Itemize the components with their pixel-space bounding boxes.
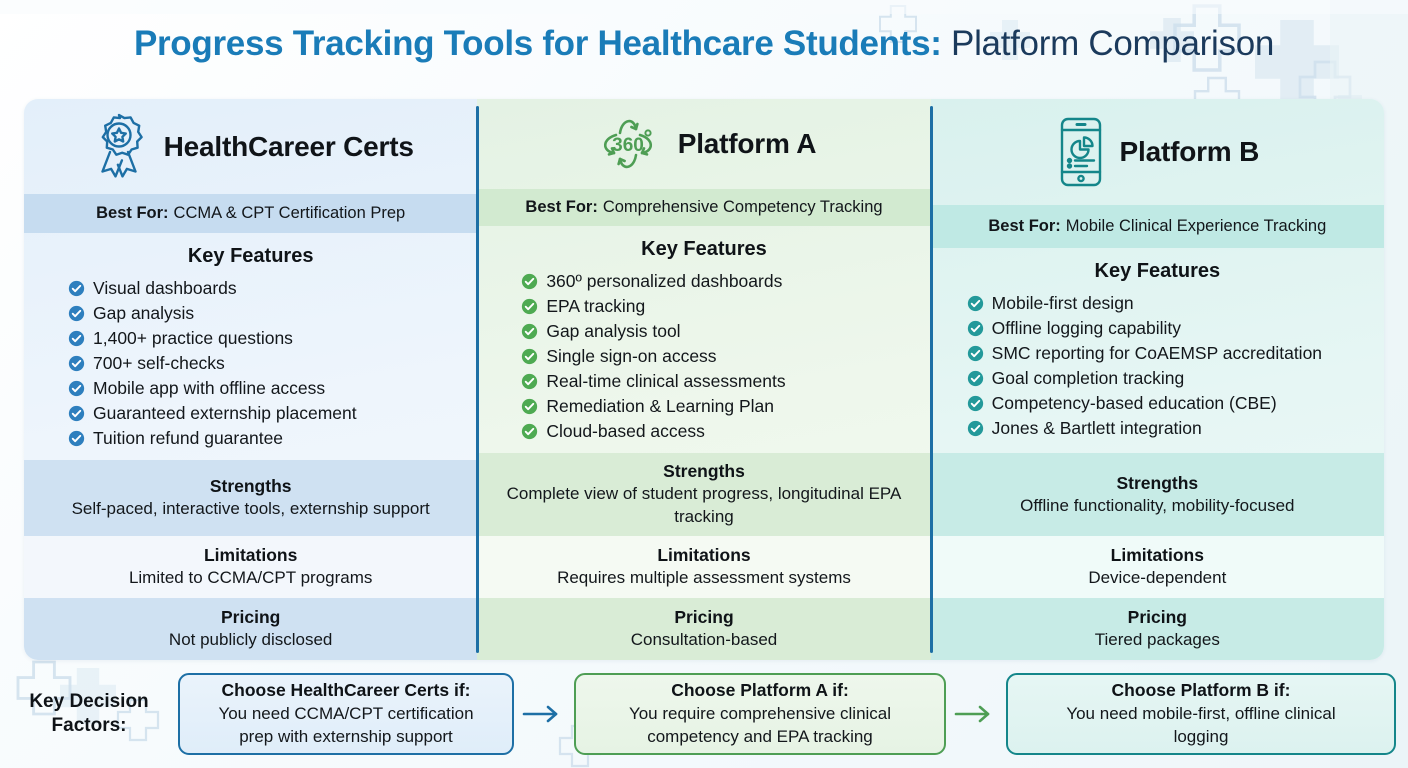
strengths-row: Strengths Complete view of student progr… — [477, 453, 930, 536]
list-item-label: Real-time clinical assessments — [546, 370, 785, 394]
features-title: Key Features — [491, 238, 916, 261]
decision-box-line-2: logging — [1020, 725, 1382, 748]
column-platform-a: 360 Platform A Best For:Comprehensive Co… — [477, 99, 930, 660]
strengths-row: Strengths Offline functionality, mobilit… — [931, 453, 1384, 536]
features-block: Key Features 360º personalized dashboard… — [477, 226, 930, 453]
decision-box-title: Choose Platform A if: — [588, 679, 932, 702]
strengths-row: Strengths Self-paced, interactive tools,… — [24, 460, 477, 536]
list-item-label: Visual dashboards — [93, 277, 237, 301]
check-circle-icon — [967, 370, 984, 387]
page-title-strong: Progress Tracking Tools for Healthcare S… — [134, 24, 942, 63]
limitations-label: Limitations — [489, 544, 918, 566]
pricing-label: Pricing — [489, 606, 918, 628]
award-ribbon-icon — [88, 112, 150, 182]
column-title: Platform A — [678, 128, 817, 160]
best-for-value: Mobile Clinical Experience Tracking — [1066, 217, 1326, 236]
strengths-label: Strengths — [943, 472, 1372, 494]
list-item-label: Jones & Bartlett integration — [992, 417, 1202, 441]
page-title-light: Platform Comparison — [942, 24, 1274, 63]
list-item-label: 1,400+ practice questions — [93, 327, 293, 351]
check-circle-icon — [521, 273, 538, 290]
arrow-gap-1 — [514, 703, 574, 725]
best-for-value: CCMA & CPT Certification Prep — [174, 204, 406, 223]
mobile-analytics-icon — [1056, 116, 1106, 188]
decision-box-line-1: You need mobile-first, offline clinical — [1020, 702, 1382, 725]
limitations-value: Requires multiple assessment systems — [489, 566, 918, 589]
best-for-band: Best For:Mobile Clinical Experience Trac… — [931, 205, 1384, 248]
list-item: Cloud-based access — [521, 420, 916, 444]
list-item: Real-time clinical assessments — [521, 370, 916, 394]
strengths-label: Strengths — [36, 475, 465, 497]
decision-box-platform-a[interactable]: Choose Platform A if: You require compre… — [574, 673, 946, 755]
list-item: Jones & Bartlett integration — [967, 417, 1370, 441]
list-item: Goal completion tracking — [967, 367, 1370, 391]
list-item-label: Guaranteed externship placement — [93, 402, 357, 426]
svg-text:360: 360 — [612, 135, 644, 156]
column-header: HealthCareer Certs — [24, 99, 477, 194]
pricing-label: Pricing — [36, 606, 465, 628]
check-circle-icon — [68, 330, 85, 347]
check-circle-icon — [521, 298, 538, 315]
best-for-band: Best For:CCMA & CPT Certification Prep — [24, 194, 477, 233]
check-circle-icon — [68, 380, 85, 397]
decision-box-healthcareer-certs[interactable]: Choose HealthCareer Certs if: You need C… — [178, 673, 514, 755]
features-list: 360º personalized dashboards EPA trackin… — [491, 270, 916, 445]
pricing-row: Pricing Not publicly disclosed — [24, 598, 477, 660]
check-circle-icon — [521, 323, 538, 340]
list-item: Single sign-on access — [521, 345, 916, 369]
list-item-label: Gap analysis tool — [546, 320, 680, 344]
best-for-band: Best For:Comprehensive Competency Tracki… — [477, 189, 930, 226]
list-item-label: 360º personalized dashboards — [546, 270, 782, 294]
arrow-right-icon — [954, 703, 998, 725]
best-for-label: Best For: — [525, 198, 597, 217]
list-item-label: Mobile-first design — [992, 292, 1134, 316]
decision-box-title: Choose HealthCareer Certs if: — [192, 679, 500, 702]
360-rotation-icon: 360 — [592, 109, 664, 179]
pricing-row: Pricing Consultation-based — [477, 598, 930, 660]
check-circle-icon — [967, 420, 984, 437]
list-item: Remediation & Learning Plan — [521, 395, 916, 419]
check-circle-icon — [967, 345, 984, 362]
check-circle-icon — [521, 398, 538, 415]
pricing-row: Pricing Tiered packages — [931, 598, 1384, 660]
check-circle-icon — [521, 423, 538, 440]
limitations-label: Limitations — [36, 544, 465, 566]
decision-box-title: Choose Platform B if: — [1020, 679, 1382, 702]
best-for-value: Comprehensive Competency Tracking — [603, 198, 883, 217]
list-item: 700+ self-checks — [68, 352, 463, 376]
list-item: Gap analysis — [68, 302, 463, 326]
list-item: Guaranteed externship placement — [68, 402, 463, 426]
limitations-row: Limitations Requires multiple assessment… — [477, 536, 930, 598]
features-list: Mobile-first design Offline logging capa… — [945, 292, 1370, 442]
strengths-value: Self-paced, interactive tools, externshi… — [36, 497, 465, 520]
list-item: EPA tracking — [521, 295, 916, 319]
list-item: 360º personalized dashboards — [521, 270, 916, 294]
list-item: Mobile app with offline access — [68, 377, 463, 401]
features-title: Key Features — [945, 260, 1370, 283]
column-header: Platform B — [931, 99, 1384, 205]
decision-box-line-1: You need CCMA/CPT certification — [192, 702, 500, 725]
list-item: Tuition refund guarantee — [68, 427, 463, 451]
check-circle-icon — [68, 280, 85, 297]
pricing-label: Pricing — [943, 606, 1372, 628]
page-title: Progress Tracking Tools for Healthcare S… — [0, 24, 1408, 64]
list-item-label: Mobile app with offline access — [93, 377, 325, 401]
list-item-label: SMC reporting for CoAEMSP accreditation — [992, 342, 1322, 366]
list-item: Competency-based education (CBE) — [967, 392, 1370, 416]
features-list: Visual dashboards Gap analysis 1,400+ pr… — [38, 277, 463, 452]
pricing-value: Consultation-based — [489, 628, 918, 651]
pricing-value: Tiered packages — [943, 628, 1372, 651]
list-item-label: Gap analysis — [93, 302, 194, 326]
list-item: Mobile-first design — [967, 292, 1370, 316]
check-circle-icon — [68, 305, 85, 322]
check-circle-icon — [68, 430, 85, 447]
list-item-label: Tuition refund guarantee — [93, 427, 283, 451]
column-title: HealthCareer Certs — [164, 131, 414, 163]
arrow-gap-2 — [946, 703, 1006, 725]
key-decision-factors-strip: Key Decision Factors: Choose HealthCaree… — [0, 668, 1408, 760]
check-circle-icon — [68, 405, 85, 422]
decision-box-line-2: competency and EPA tracking — [588, 725, 932, 748]
limitations-label: Limitations — [943, 544, 1372, 566]
list-item: Offline logging capability — [967, 317, 1370, 341]
list-item-label: EPA tracking — [546, 295, 645, 319]
list-item: 1,400+ practice questions — [68, 327, 463, 351]
features-title: Key Features — [38, 245, 463, 268]
column-healthcareer-certs: HealthCareer Certs Best For:CCMA & CPT C… — [24, 99, 477, 660]
arrow-right-icon — [522, 703, 566, 725]
list-item: Gap analysis tool — [521, 320, 916, 344]
infographic-root: Progress Tracking Tools for Healthcare S… — [0, 0, 1408, 768]
list-item: Visual dashboards — [68, 277, 463, 301]
check-circle-icon — [68, 355, 85, 372]
features-block: Key Features Mobile-first design Offline… — [931, 248, 1384, 453]
list-item-label: Single sign-on access — [546, 345, 716, 369]
list-item-label: Remediation & Learning Plan — [546, 395, 774, 419]
limitations-value: Limited to CCMA/CPT programs — [36, 566, 465, 589]
check-circle-icon — [967, 320, 984, 337]
list-item-label: Competency-based education (CBE) — [992, 392, 1277, 416]
limitations-row: Limitations Device-dependent — [931, 536, 1384, 598]
comparison-card: HealthCareer Certs Best For:CCMA & CPT C… — [24, 99, 1384, 660]
list-item-label: Cloud-based access — [546, 420, 705, 444]
check-circle-icon — [521, 348, 538, 365]
column-title: Platform B — [1120, 136, 1260, 168]
check-circle-icon — [521, 373, 538, 390]
features-block: Key Features Visual dashboards Gap analy… — [24, 233, 477, 460]
key-decision-factors-label: Key Decision Factors: — [0, 690, 178, 738]
list-item-label: 700+ self-checks — [93, 352, 225, 376]
column-header: 360 Platform A — [477, 99, 930, 189]
decision-box-platform-b[interactable]: Choose Platform B if: You need mobile-fi… — [1006, 673, 1396, 755]
strengths-value: Complete view of student progress, longi… — [489, 482, 918, 528]
limitations-row: Limitations Limited to CCMA/CPT programs — [24, 536, 477, 598]
best-for-label: Best For: — [96, 204, 168, 223]
list-item-label: Offline logging capability — [992, 317, 1181, 341]
strengths-label: Strengths — [489, 460, 918, 482]
strengths-value: Offline functionality, mobility-focused — [943, 494, 1372, 517]
kdf-line-2: Factors: — [0, 714, 178, 738]
check-circle-icon — [967, 295, 984, 312]
column-platform-b: Platform B Best For:Mobile Clinical Expe… — [931, 99, 1384, 660]
limitations-value: Device-dependent — [943, 566, 1372, 589]
decision-box-line-1: You require comprehensive clinical — [588, 702, 932, 725]
decision-box-line-2: prep with externship support — [192, 725, 500, 748]
list-item-label: Goal completion tracking — [992, 367, 1185, 391]
check-circle-icon — [967, 395, 984, 412]
best-for-label: Best For: — [988, 217, 1060, 236]
kdf-line-1: Key Decision — [0, 690, 178, 714]
list-item: SMC reporting for CoAEMSP accreditation — [967, 342, 1370, 366]
pricing-value: Not publicly disclosed — [36, 628, 465, 651]
